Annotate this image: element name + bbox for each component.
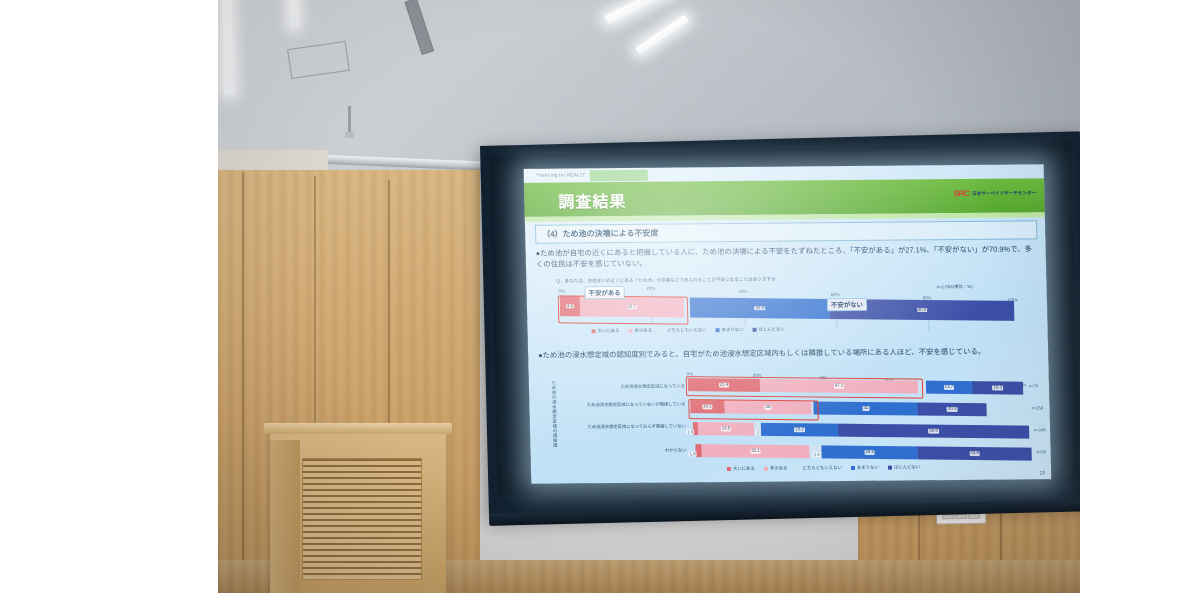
chart1-callout-not-anxious: 不安がない bbox=[827, 298, 867, 311]
slide-tagline-band bbox=[590, 170, 648, 182]
control-button[interactable] bbox=[968, 514, 980, 519]
legend-swatch-icon bbox=[888, 465, 892, 469]
logo-text: 日本サーベイリサーチセンター bbox=[972, 190, 1036, 197]
legend-swatch-icon bbox=[752, 328, 756, 332]
chart2-legend-item-4: あまりない bbox=[851, 465, 879, 471]
chart2-n-1: n=70 bbox=[1029, 383, 1038, 388]
chart2-legend-label-4: あまりない bbox=[857, 465, 879, 470]
chart2-bar-row-4: 32.1 28.6 33.9 bbox=[695, 444, 1032, 461]
slide-bullet-1: ●ため池が自宅の近くにあると把握している人に、ため池の決壊による不安をたずねたと… bbox=[536, 244, 1035, 270]
chart1-seg-あまりない: 30.6 bbox=[690, 298, 830, 319]
chart2-r4-seg2: 32.1 bbox=[701, 444, 809, 458]
chart2-r4-v5: 33.9 bbox=[969, 451, 980, 456]
chart2-r4-seg4: 28.6 bbox=[821, 445, 917, 459]
chart1-xtick-40: 40% bbox=[739, 289, 748, 294]
legend-swatch-icon bbox=[716, 328, 720, 332]
chart2-r2-v4: 31 bbox=[862, 406, 869, 410]
chart2-r1-v4: 13.7 bbox=[944, 385, 955, 390]
control-button[interactable] bbox=[942, 514, 954, 519]
chart2-r4-v3: 3.6 bbox=[813, 452, 821, 457]
podium-top bbox=[264, 423, 452, 434]
chart2-r2-v1: 10.1 bbox=[702, 405, 713, 410]
chart2-bar-row-3: 16.5 23.2 56.6 bbox=[693, 422, 1030, 439]
chart1-seg-大いにある: 4.4 bbox=[560, 296, 581, 316]
chart2-legend-label-1: 大いにある bbox=[733, 466, 755, 471]
screen-rod-cap-left bbox=[345, 132, 354, 138]
chart2-r3-seg5: 56.6 bbox=[838, 424, 1029, 439]
chart2-r3-v1: 1.6 bbox=[686, 429, 694, 434]
chart2-legend-label-3: どちらともいえない bbox=[802, 465, 842, 470]
chart2-bar-row-2: 10.1 26 31 20.3 bbox=[690, 400, 1027, 417]
chart1-xtick-0: 0% bbox=[559, 288, 565, 293]
chart2-xtick-20: 20% bbox=[753, 373, 762, 378]
chart1-callout-anxious: 不安がある bbox=[584, 286, 624, 299]
legend-swatch-icon bbox=[796, 466, 800, 470]
chart2-r2-seg2: 26 bbox=[724, 401, 812, 415]
podium-grille bbox=[302, 458, 422, 580]
chart1-val-4: 30.6 bbox=[754, 306, 765, 311]
company-logo: SRC 日本サーベイリサーチセンター bbox=[953, 188, 1036, 198]
chart2-r4-v2: 32.1 bbox=[750, 449, 761, 454]
screen-rod-left bbox=[348, 106, 351, 134]
photograph: "Yield-ing for REAL!!!" 調査結果 SRC 日本サーベイリ… bbox=[218, 0, 1080, 593]
podium bbox=[270, 430, 446, 593]
chart1-legend-item-3: どちらともいえない bbox=[661, 327, 707, 333]
podium-side-panel bbox=[270, 440, 300, 593]
chart1-legend-label-3: どちらともいえない bbox=[667, 327, 707, 332]
chart2-legend-label-5: ほとんどない bbox=[894, 464, 920, 469]
chart2-r2-v2: 26 bbox=[765, 405, 772, 409]
chart2-r1-seg4: 13.7 bbox=[926, 381, 972, 394]
chart1-val-1: 4.4 bbox=[566, 304, 574, 308]
chart1-legend-label-4: あまりない bbox=[721, 327, 743, 332]
chart2-rowlabel-3: ため池浸水想定区域になっておらず隣接していない bbox=[570, 423, 686, 429]
wood-seam-1 bbox=[242, 172, 244, 592]
chart2-r4-seg5: 33.9 bbox=[918, 446, 1032, 460]
chart1-xtick-60: 60% bbox=[831, 292, 840, 297]
chart2-r1-v5: 15.3 bbox=[992, 386, 1003, 391]
chart2-n-2: n=158 bbox=[1032, 405, 1044, 410]
chart2-r2-seg5: 20.3 bbox=[918, 403, 987, 417]
chart1-val-5: 40.5 bbox=[917, 308, 928, 313]
slide-subtitle-box: （4）ため池の決壊による不安度 bbox=[535, 220, 1038, 243]
legend-swatch-icon bbox=[764, 467, 768, 471]
legend-swatch-icon bbox=[727, 467, 731, 471]
chart1-legend-item-5: ほとんどない bbox=[752, 327, 784, 333]
chart2-n-4: n=56 bbox=[1037, 449, 1046, 454]
chart2-r1-v2: 47.1 bbox=[834, 384, 845, 389]
chart2-rowlabel-2: ため池浸水想定区域になっていないが隣接している bbox=[569, 401, 685, 407]
chart2-legend-item-2: 多少ある bbox=[764, 466, 788, 472]
chart2-legend-item-5: ほとんどない bbox=[888, 464, 920, 470]
ceiling-light-1 bbox=[222, 0, 235, 95]
chart1-legend-item-2: 多少ある bbox=[628, 328, 652, 334]
chart1-xtick-20: 20% bbox=[646, 286, 655, 291]
screen-surface: "Yield-ing for REAL!!!" 調査結果 SRC 日本サーベイリ… bbox=[489, 142, 1079, 496]
chart2-legend: 大いにある 多少ある どちらともいえない あまりない ほとんどない bbox=[727, 464, 920, 472]
chart-overall: Q．あなたは、お住まいの近くにある「ため池」が決壊などであふれることが不安になる… bbox=[526, 274, 1048, 345]
chart1-val-2: 22.7 bbox=[626, 305, 637, 310]
slide-page-number: 13 bbox=[1040, 470, 1046, 476]
legend-swatch-icon bbox=[628, 329, 632, 333]
ceiling-light-2 bbox=[289, 0, 299, 28]
chart2-r2-seg4: 31 bbox=[814, 401, 919, 415]
chart2-n-3: n=249 bbox=[1034, 427, 1046, 432]
legend-swatch-icon bbox=[851, 466, 855, 470]
chart2-rowlabel-1: ため池浸水想定区域になっている bbox=[569, 383, 685, 389]
legend-swatch-icon bbox=[661, 328, 665, 332]
projected-slide: "Yield-ing for REAL!!!" 調査結果 SRC 日本サーベイリ… bbox=[524, 164, 1052, 483]
chart1-n-note: n=1,053(単位：%) bbox=[937, 284, 973, 290]
slide-bullet-2: ●ため池の浸水想定域の認知度別でみると、自宅がため池浸水想定区域内もしくは隣接し… bbox=[538, 346, 1038, 361]
chart2-rowlabel-4: わからない bbox=[630, 447, 686, 453]
chart2-r3-seg4: 23.2 bbox=[760, 423, 838, 437]
chart2-legend-label-2: 多少ある bbox=[770, 466, 788, 471]
logo-mark: SRC bbox=[953, 189, 969, 198]
chart2-r4-v4: 28.6 bbox=[864, 450, 875, 455]
legend-swatch-icon bbox=[592, 329, 596, 333]
chart1-bar-row: 4.4 22.7 30.6 40.5 bbox=[560, 296, 1017, 321]
chart2-legend-item-1: 大いにある bbox=[727, 466, 755, 472]
chart1-legend: 大いにある 多少ある どちらともいえない あまりない ほとんどない bbox=[591, 327, 784, 335]
chart1-legend-label-2: 多少ある bbox=[634, 328, 652, 333]
chart2-r4-v1: 1.8 bbox=[689, 451, 697, 456]
chart2-r2-seg1: 10.1 bbox=[690, 400, 724, 413]
chart2-xtick-0: 0% bbox=[687, 371, 693, 376]
chart2-r2-v5: 20.3 bbox=[947, 407, 958, 412]
chart2-r3-seg2: 16.5 bbox=[698, 422, 754, 436]
chart2-r3-v5: 56.6 bbox=[928, 429, 939, 434]
control-button[interactable] bbox=[955, 514, 967, 519]
chart2-legend-item-3: どちらともいえない bbox=[796, 465, 842, 471]
chart2-r3-v4: 23.2 bbox=[794, 427, 805, 432]
page-root: "Yield-ing for REAL!!!" 調査結果 SRC 日本サーベイリ… bbox=[0, 0, 1200, 593]
chart1-legend-item-4: あまりない bbox=[715, 327, 743, 333]
chart2-r1-seg2: 47.1 bbox=[760, 379, 919, 394]
chart2-r3-v2: 16.5 bbox=[721, 427, 732, 432]
chart1-question: Q．あなたは、お住まいの近くにある「ため池」が決壊などであふれることが不安になる… bbox=[556, 274, 1026, 284]
chart2-r3-v3: 2 bbox=[756, 430, 761, 435]
chart1-legend-label-5: ほとんどない bbox=[758, 327, 784, 332]
chart-by-awareness: ため池の浸水想定区域の認知度 0% 20% 40% 60% 80% 100% た… bbox=[529, 370, 1052, 480]
projection-screen: "Yield-ing for REAL!!!" 調査結果 SRC 日本サーベイリ… bbox=[480, 131, 1080, 516]
chart2-r1-seg1: 21.4 bbox=[688, 378, 760, 392]
slide-title: 調査結果 bbox=[558, 188, 627, 213]
chart2-axis-title: ため池の浸水想定区域の認知度 bbox=[551, 381, 559, 473]
chart2-r1-seg5: 15.3 bbox=[972, 381, 1024, 395]
slide-tagline: "Yield-ing for REAL!!!" bbox=[536, 172, 587, 177]
slide-subtitle: （4）ため池の決壊による不安度 bbox=[542, 228, 658, 240]
chart2-r1-v1: 21.4 bbox=[719, 383, 730, 388]
chart1-legend-label-1: 大いにある bbox=[597, 328, 619, 333]
chart1-legend-item-1: 大いにある bbox=[591, 328, 619, 334]
chart1-seg-多少ある: 22.7 bbox=[580, 296, 684, 317]
chart2-bar-row-1: 21.4 47.1 13.7 15.3 bbox=[688, 378, 1025, 395]
